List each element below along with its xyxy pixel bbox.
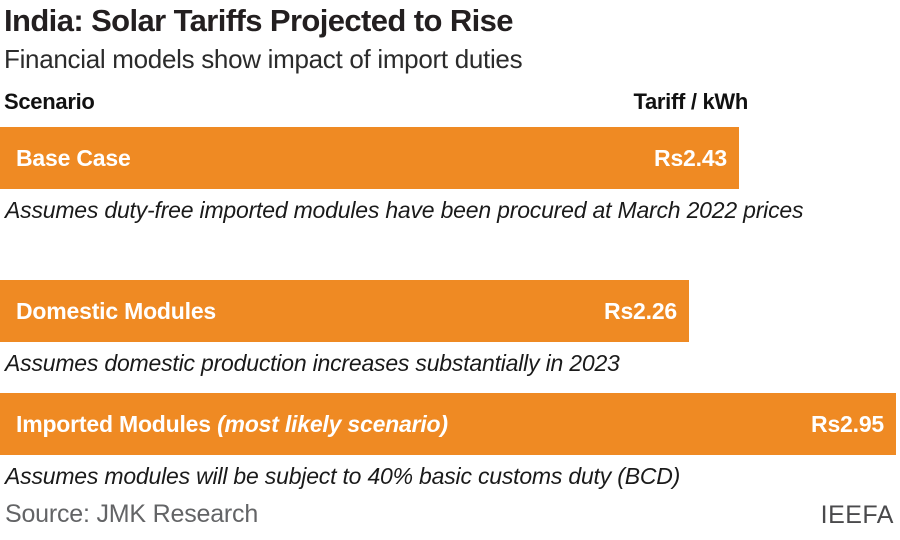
ieefa-logo: IEEFA <box>821 499 894 531</box>
page-subtitle: Financial models show impact of import d… <box>4 42 894 76</box>
bar-label-imported-modules-note: (most likely scenario) <box>217 411 448 437</box>
bar-label-imported-modules: Imported Modules (most likely scenario) <box>16 413 448 436</box>
bar-value-imported-modules: Rs2.95 <box>811 413 884 436</box>
caption-base-case: Assumes duty-free imported modules have … <box>5 195 835 225</box>
bar-label-imported-modules-text: Imported Modules <box>16 411 217 437</box>
bar-label-domestic-modules: Domestic Modules <box>16 300 216 323</box>
bar-domestic-modules: Domestic Modules Rs2.26 <box>0 280 689 342</box>
bar-label-base-case: Base Case <box>16 147 131 170</box>
column-header-row: Scenario Tariff / kWh <box>0 88 900 118</box>
caption-domestic-modules: Assumes domestic production increases su… <box>5 348 885 378</box>
bar-value-base-case: Rs2.43 <box>654 147 727 170</box>
footer: Source: JMK Research IEEFA <box>0 498 900 540</box>
chart-canvas: India: Solar Tariffs Projected to Rise F… <box>0 0 900 540</box>
bar-value-domestic-modules: Rs2.26 <box>604 300 677 323</box>
bar-imported-modules: Imported Modules (most likely scenario) … <box>0 393 896 455</box>
column-header-tariff: Tariff / kWh <box>0 88 748 116</box>
page-title: India: Solar Tariffs Projected to Rise <box>4 2 894 40</box>
caption-imported-modules: Assumes modules will be subject to 40% b… <box>5 461 900 491</box>
bar-base-case: Base Case Rs2.43 <box>0 127 739 189</box>
source-label: Source: JMK Research <box>5 498 258 530</box>
